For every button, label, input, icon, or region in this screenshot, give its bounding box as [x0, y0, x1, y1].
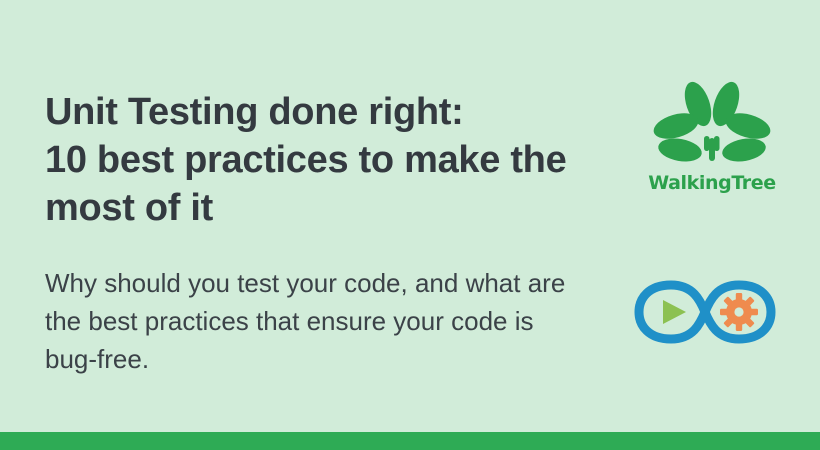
footer-accent-bar	[0, 432, 820, 450]
brand-column: WalkingTree	[632, 78, 792, 194]
gear-icon	[720, 293, 758, 331]
page-subtitle: Why should you test your code, and what …	[45, 232, 625, 378]
play-triangle-icon	[663, 300, 686, 324]
article-banner: Unit Testing done right: 10 best practic…	[0, 0, 820, 450]
devops-infinity-icon	[630, 272, 780, 352]
brand-wordmark: WalkingTree	[632, 172, 792, 194]
walkingtree-tree-logo	[650, 78, 774, 170]
banner-text-column: Unit Testing done right: 10 best practic…	[45, 88, 625, 378]
page-title: Unit Testing done right: 10 best practic…	[45, 88, 625, 232]
devops-icon-container	[630, 272, 796, 358]
